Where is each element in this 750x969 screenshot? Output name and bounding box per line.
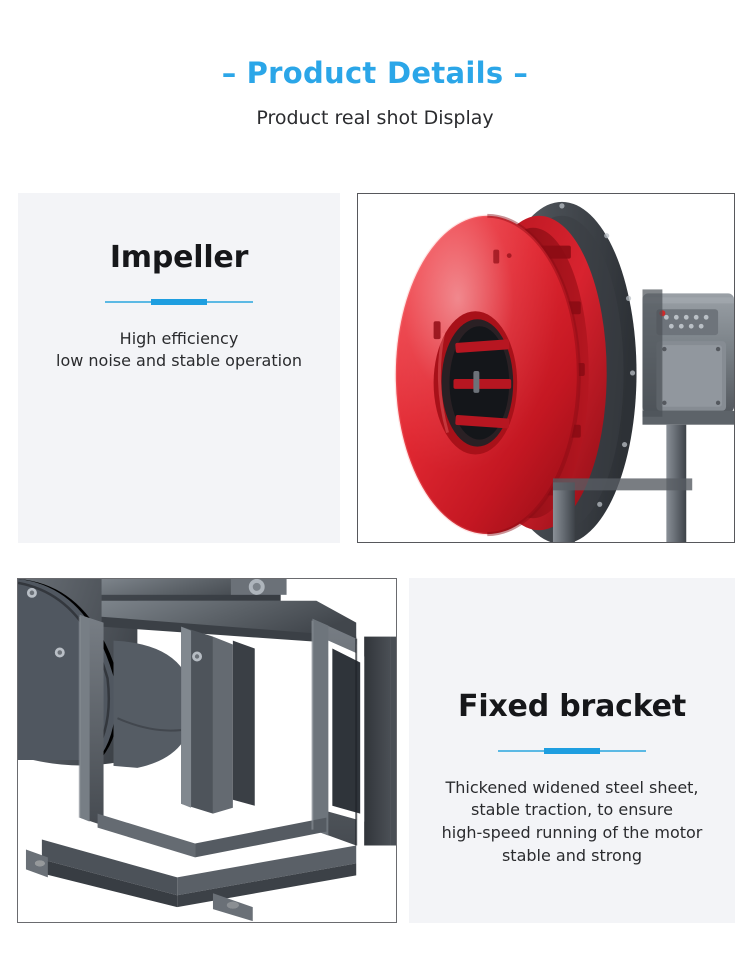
top-mount-plate [102,579,287,603]
page-header: –Product Details– Product real shot Disp… [0,0,750,130]
title-dash-right: – [503,58,538,90]
fixed-bracket-description: Thickened widened steel sheet, stable tr… [409,755,735,868]
bracket-frame [26,601,390,921]
impeller-text-card: Impeller High efficiency low noise and s… [18,193,340,543]
impeller-title: Impeller [18,241,340,276]
impeller-description: High efficiency low noise and stable ope… [18,306,340,373]
fixed-bracket-title: Fixed bracket [409,690,735,725]
impeller-photo-panel [357,193,735,543]
page-title: –Product Details– [0,0,750,90]
fixed-bracket-divider [498,747,646,755]
fixed-bracket-description-line-1: Thickened widened steel sheet, [445,778,698,797]
section-fixed-bracket: Fixed bracket Thickened widened steel sh… [0,578,750,923]
fixed-bracket-photo-illustration [18,579,396,922]
impeller-text-body: Impeller High efficiency low noise and s… [18,193,340,373]
divider-nub [151,299,207,305]
section-impeller: Impeller High efficiency low noise and s… [0,193,750,543]
page-subtitle: Product real shot Display [0,90,750,130]
fixed-bracket-description-line-2: stable traction, to ensure [471,800,673,819]
fixed-bracket-text-body: Fixed bracket Thickened widened steel sh… [409,578,735,867]
divider-nub [544,748,600,754]
title-dash-left: – [212,58,247,90]
impeller-description-line-1: High efficiency [120,329,239,348]
impeller-photo-illustration [358,194,734,542]
fixed-bracket-photo-panel [17,578,397,923]
impeller-description-line-2: low noise and stable operation [56,351,302,370]
page-title-text: Product Details [247,56,504,90]
fixed-bracket-description-line-3: high-speed running of the motor [442,823,703,842]
impeller-divider [105,298,253,306]
fixed-bracket-description-line-4: stable and strong [502,846,642,865]
motor-assembly [642,289,734,424]
impeller-front-disc [396,216,579,534]
fixed-bracket-text-card: Fixed bracket Thickened widened steel sh… [409,578,735,923]
